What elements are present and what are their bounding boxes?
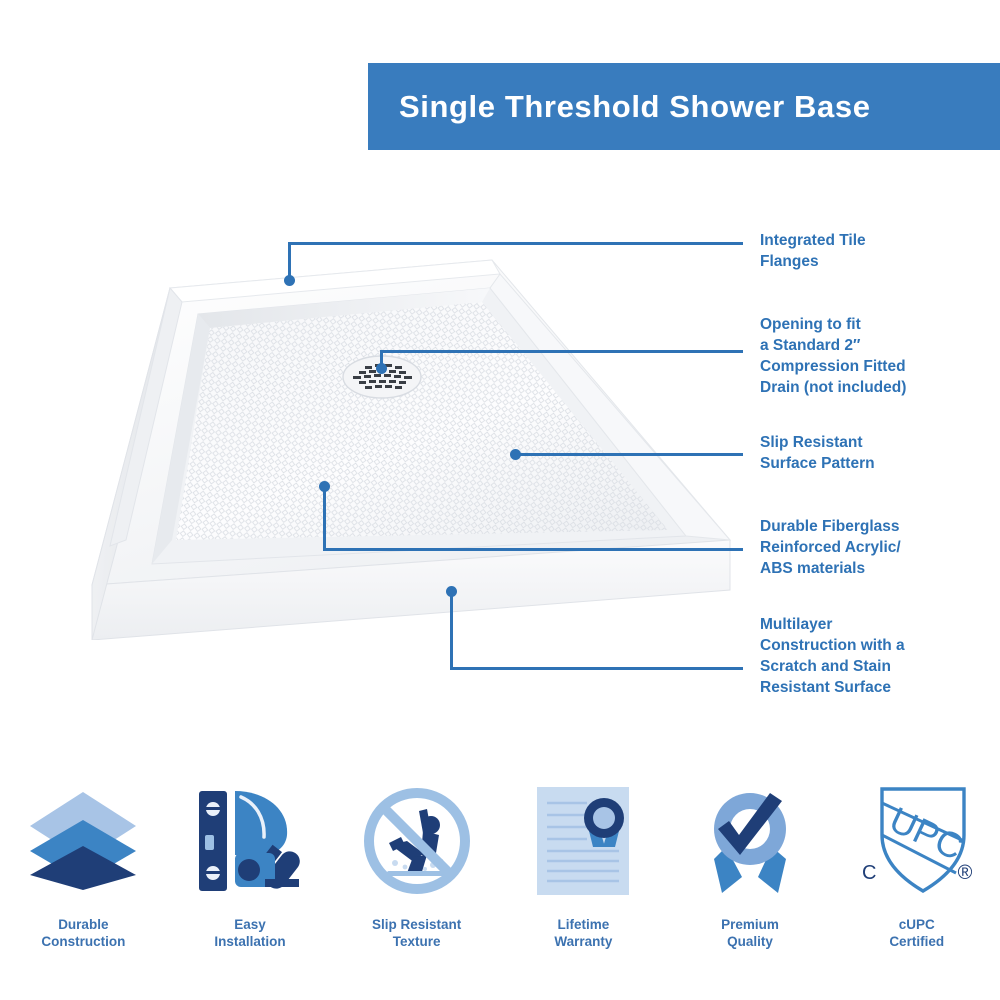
leader-segment — [323, 548, 743, 551]
no-slip-icon — [361, 782, 473, 900]
feature-label: Durable Construction — [41, 916, 125, 950]
callout-integrated-tile-flanges: Integrated Tile Flanges — [760, 230, 995, 272]
layers-icon — [27, 782, 139, 900]
feature-cupc-certified: UPC C ® cUPC Certified — [833, 782, 1000, 982]
feature-row: Durable Construction — [0, 782, 1000, 982]
feature-label: Easy Installation — [214, 916, 285, 950]
callout-drain-opening: Opening to fit a Standard 2″ Compression… — [760, 314, 995, 398]
leader-segment — [288, 242, 291, 280]
feature-premium-quality: Premium Quality — [667, 782, 834, 982]
certificate-icon — [531, 782, 635, 900]
product-infographic: Single Threshold Shower Base — [0, 0, 1000, 1000]
feature-easy-installation: Easy Installation — [167, 782, 334, 982]
leader-segment — [450, 591, 453, 667]
cupc-left-mark: C — [862, 862, 876, 884]
leader-segment — [288, 242, 743, 245]
leader-segment — [450, 667, 743, 670]
cupc-right-mark: ® — [957, 862, 972, 884]
feature-label: Slip Resistant Texture — [372, 916, 461, 950]
feature-label: Premium Quality — [721, 916, 779, 950]
leader-segment — [515, 453, 743, 456]
shower-base-illustration — [30, 240, 750, 640]
trowel-level-icon — [191, 782, 309, 900]
check-rosette-icon — [696, 782, 804, 900]
feature-label: Lifetime Warranty — [554, 916, 612, 950]
feature-durable-construction: Durable Construction — [0, 782, 167, 982]
feature-label: cUPC Certified — [889, 916, 944, 950]
title-banner: Single Threshold Shower Base — [368, 63, 1000, 150]
page-title: Single Threshold Shower Base — [368, 89, 871, 125]
callout-multilayer-construction: Multilayer Construction with a Scratch a… — [760, 614, 995, 698]
feature-slip-resistant-texture: Slip Resistant Texture — [333, 782, 500, 982]
cupc-shield-icon: UPC C ® — [852, 782, 982, 900]
leader-segment — [380, 350, 743, 353]
leader-segment — [323, 486, 326, 548]
feature-lifetime-warranty: Lifetime Warranty — [500, 782, 667, 982]
callout-slip-resistant-surface: Slip Resistant Surface Pattern — [760, 432, 995, 474]
callout-durable-fiberglass: Durable Fiberglass Reinforced Acrylic/ A… — [760, 516, 995, 579]
